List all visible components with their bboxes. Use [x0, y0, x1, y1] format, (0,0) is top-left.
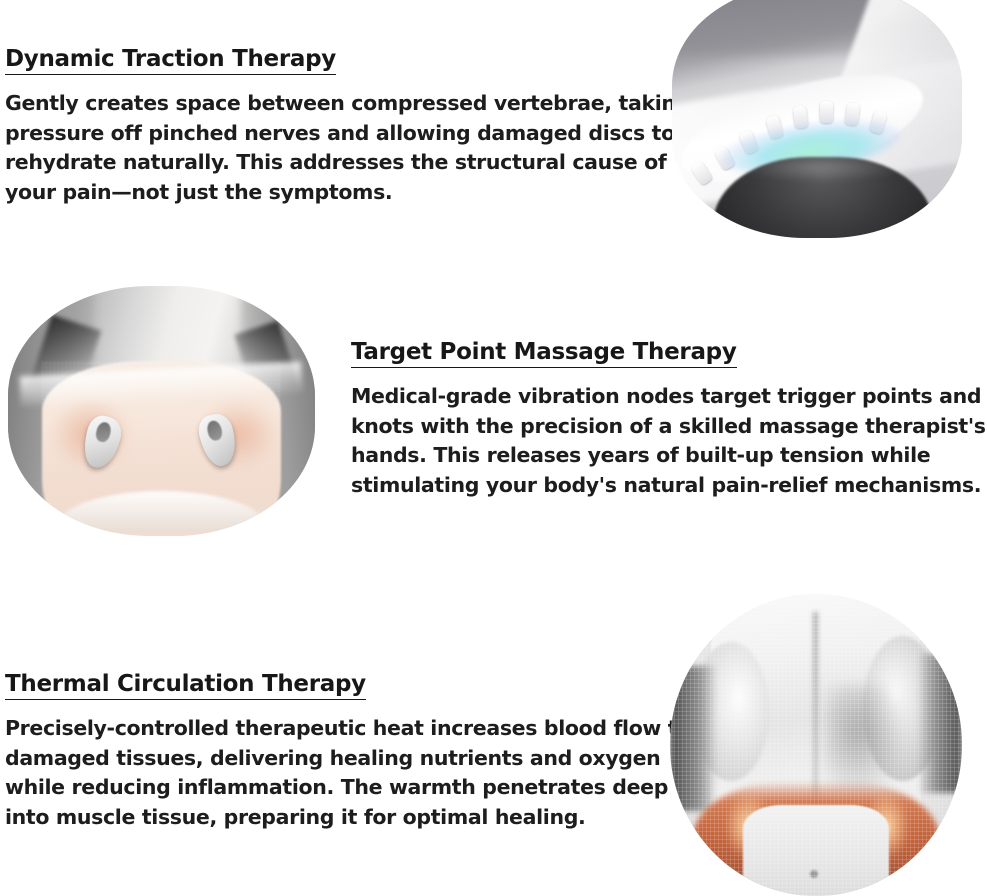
- body-line: your pain—not just the symptoms.: [5, 178, 645, 208]
- vertebra: [820, 101, 833, 123]
- section-body-traction: Gently creates space between compressed …: [5, 89, 645, 207]
- cushion-highlight: [736, 152, 904, 182]
- spine-traction-photo: [672, 0, 962, 238]
- infographic-page: Dynamic Traction Therapy Gently creates …: [0, 0, 987, 896]
- body-line: Medical-grade vibration nodes target tri…: [351, 382, 951, 412]
- body-line: stimulating your body's natural pain-rel…: [351, 471, 951, 501]
- body-line: Precisely-controlled therapeutic heat in…: [5, 714, 650, 744]
- section-heading-thermal: Thermal Circulation Therapy: [5, 670, 366, 700]
- body-line: rehydrate naturally. This addresses the …: [5, 148, 645, 178]
- navel: [810, 870, 818, 878]
- body-line: hands. This releases years of built-up t…: [351, 441, 951, 471]
- body-line: Gently creates space between compressed …: [5, 89, 645, 119]
- thermal-back-photo: [670, 594, 962, 896]
- section-dynamic-traction-therapy: Dynamic Traction Therapy Gently creates …: [5, 45, 645, 207]
- node-tip: [94, 421, 112, 444]
- body-line: pressure off pinched nerves and allowing…: [5, 119, 645, 149]
- photo-right-shadow: [918, 654, 962, 793]
- body-line: knots with the precision of a skilled ma…: [351, 412, 951, 442]
- body-line: while reducing inflammation. The warmth …: [5, 773, 650, 803]
- section-body-massage: Medical-grade vibration nodes target tri…: [351, 382, 951, 500]
- section-heading-massage: Target Point Massage Therapy: [351, 338, 737, 368]
- photo-left-shadow: [670, 666, 717, 811]
- section-target-point-massage-therapy: Target Point Massage Therapy Medical-gra…: [351, 338, 951, 500]
- body-line: damaged tissues, delivering healing nutr…: [5, 744, 650, 774]
- section-thermal-circulation-therapy: Thermal Circulation Therapy Precisely-co…: [5, 670, 650, 832]
- section-heading-traction: Dynamic Traction Therapy: [5, 45, 336, 75]
- lower-torso: [743, 805, 889, 896]
- node-tip: [206, 419, 224, 442]
- body-line: into muscle tissue, preparing it for opt…: [5, 803, 650, 833]
- massage-nodes-photo: [8, 286, 315, 536]
- spine-traction-scene: [672, 0, 962, 238]
- section-body-thermal: Precisely-controlled therapeutic heat in…: [5, 714, 650, 832]
